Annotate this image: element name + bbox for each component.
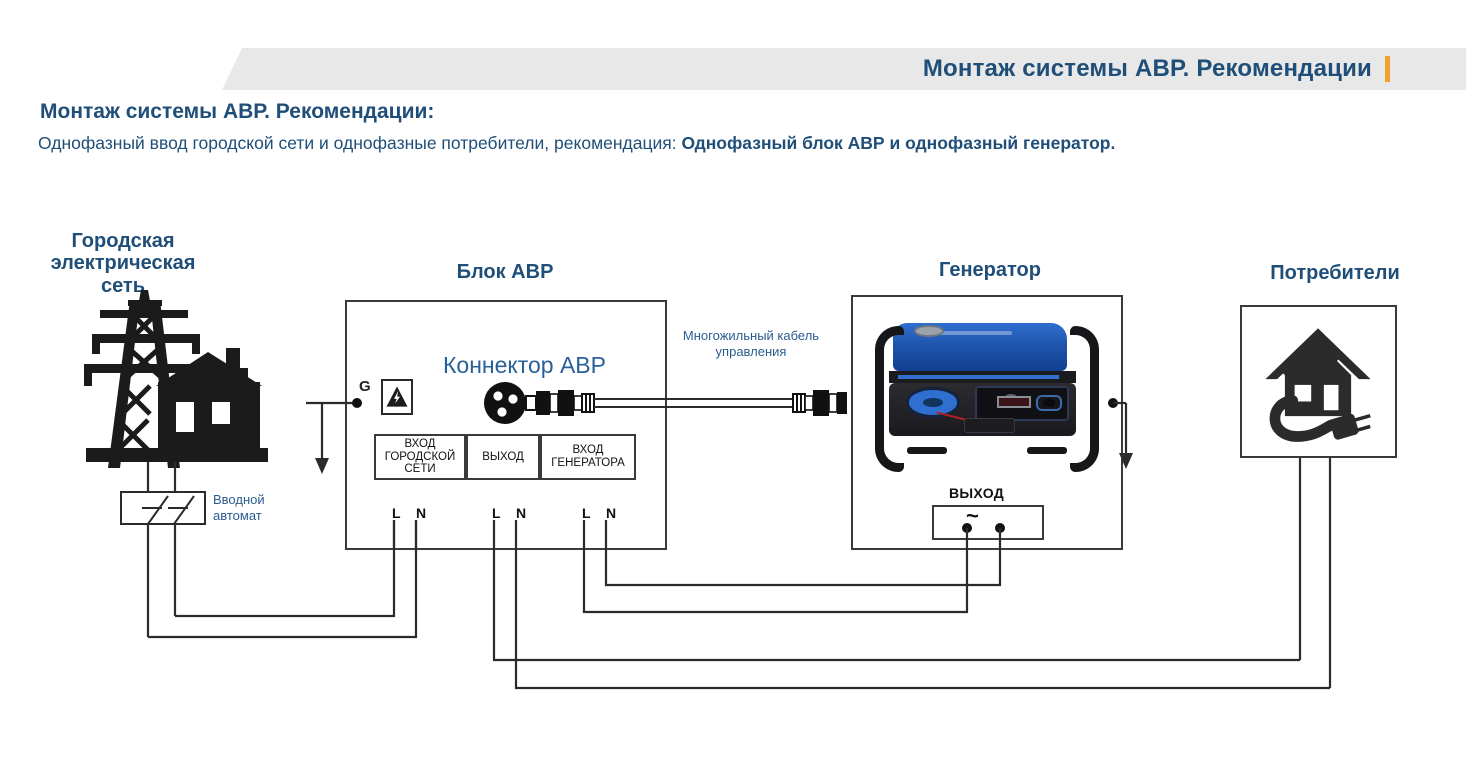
label-consumers: Потребители (1220, 262, 1450, 284)
label-control-cable: Многожильный кабель управления (676, 328, 826, 360)
ground-terminal-label: G (359, 378, 371, 395)
high-voltage-warning-icon (381, 379, 413, 415)
terminal-box-output: ВЫХОД (466, 434, 540, 480)
avr-connector-title: Коннектор АВР (443, 352, 606, 379)
label-generator: Генератор (880, 259, 1100, 281)
intro-text-bold: Однофазный блок АВР и однофазный генерат… (681, 133, 1115, 153)
pin-label-output-n: N (516, 505, 526, 521)
banner-title: Монтаж системы АВР. Рекомендации (923, 55, 1372, 83)
intro-paragraph: Однофазный ввод городской сети и однофаз… (38, 131, 1438, 156)
pin-label-output-l: L (492, 505, 501, 521)
grid-drop-wires (148, 462, 175, 637)
header-banner: Монтаж системы АВР. Рекомендации (0, 48, 1466, 90)
pin-label-mains-n: N (416, 505, 426, 521)
portable-generator-photo (860, 305, 1114, 485)
ac-symbol: ~ (966, 503, 979, 529)
terminal-box-generator-input: ВХОД ГЕНЕРАТОРА (540, 434, 636, 480)
generator-output-box (932, 505, 1044, 540)
label-city-grid: Городская электрическая сеть (8, 230, 238, 297)
house-with-plug-icon (1242, 307, 1395, 456)
house-icon (86, 348, 268, 462)
terminal-box-mains-input: ВХОД ГОРОДСКОЙ СЕТИ (374, 434, 466, 480)
label-input-breaker: Вводной автомат (213, 492, 295, 524)
generator-output-label: ВЫХОД (949, 485, 1004, 501)
banner-accent-bar (1385, 56, 1390, 82)
consumers-box (1240, 305, 1397, 458)
pin-label-gen-n: N (606, 505, 616, 521)
intro-text-normal: Однофазный ввод городской сети и однофаз… (38, 133, 681, 153)
power-transmission-tower-icon (84, 290, 268, 468)
label-avr-block: Блок АВР (390, 261, 620, 283)
pin-label-mains-l: L (392, 505, 401, 521)
pin-label-gen-l: L (582, 505, 591, 521)
page-title: Монтаж системы АВР. Рекомендации: (40, 100, 434, 124)
diagram-canvas: Монтаж системы АВР. Рекомендации Монтаж … (0, 0, 1466, 780)
circuit-breaker-icon (121, 492, 205, 524)
generator-side-connector (793, 390, 847, 416)
